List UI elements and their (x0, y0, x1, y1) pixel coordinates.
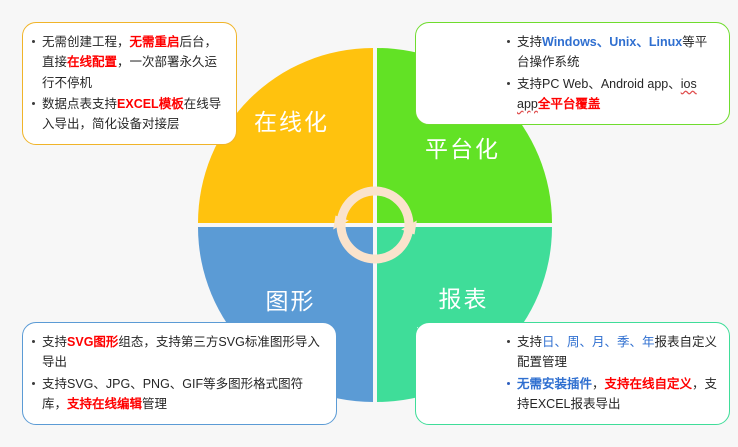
list-item: 支持SVG、JPG、PNG、GIF等多图形格式图符库，支持在线编辑管理 (31, 374, 326, 415)
callout-online: 无需创建工程，无需重启后台，直接在线配置，一次部署永久运行不停机 数据点表支持E… (22, 22, 237, 145)
list-item: 支持Windows、Unix、Linux等平台操作系统 (506, 32, 719, 73)
infographic-canvas: 在线化 跨 平台化 图形 组态化 报表 自定义化 无需创建工程，无需重启后台，直… (0, 0, 738, 447)
list-item: 无需安装插件，支持在线自定义，支持EXCEL报表导出 (506, 374, 719, 415)
list-item: 数据点表支持EXCEL模板在线导入导出，简化设备对接层 (31, 94, 226, 135)
list-item: 支持SVG图形组态，支持第三方SVG标准图形导入导出 (31, 332, 326, 373)
callout-report: 支持日、周、月、季、年报表自定义配置管理 无需安装插件，支持在线自定义，支持EX… (415, 322, 730, 425)
callout-cross-platform: 支持Windows、Unix、Linux等平台操作系统 支持PC Web、And… (415, 22, 730, 125)
callout-graphics-list: 支持SVG图形组态，支持第三方SVG标准图形导入导出 支持SVG、JPG、PNG… (31, 332, 326, 414)
quadrant-online-label: 在线化 (242, 105, 329, 167)
list-item: 无需创建工程，无需重启后台，直接在线配置，一次部署永久运行不停机 (31, 32, 226, 93)
callout-online-list: 无需创建工程，无需重启后台，直接在线配置，一次部署永久运行不停机 数据点表支持E… (31, 32, 226, 134)
callout-graphics: 支持SVG图形组态，支持第三方SVG标准图形导入导出 支持SVG、JPG、PNG… (22, 322, 337, 425)
callout-report-list: 支持日、周、月、季、年报表自定义配置管理 无需安装插件，支持在线自定义，支持EX… (424, 332, 719, 414)
list-item: 支持PC Web、Android app、ios app全平台覆盖 (506, 74, 719, 115)
list-item: 支持日、周、月、季、年报表自定义配置管理 (506, 332, 719, 373)
callout-cross-platform-list: 支持Windows、Unix、Linux等平台操作系统 支持PC Web、And… (424, 32, 719, 114)
